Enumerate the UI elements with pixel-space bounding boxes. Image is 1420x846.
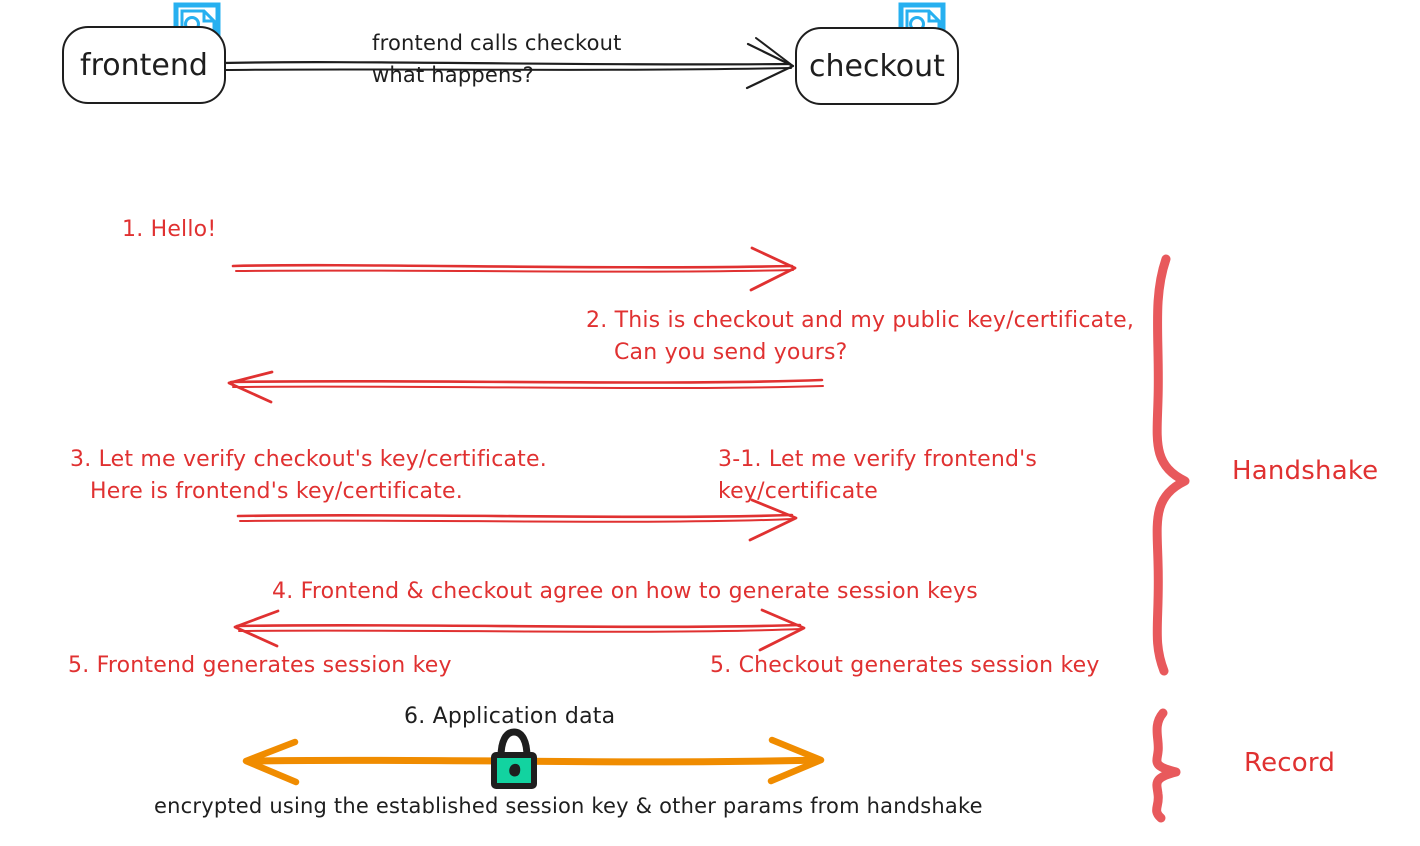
node-frontend-label: frontend bbox=[64, 48, 224, 83]
edge-label-line1: frontend calls checkout bbox=[372, 30, 622, 57]
step-3-1-label-line2: key/certificate bbox=[718, 478, 878, 506]
edge-label-line2: what happens? bbox=[372, 62, 534, 89]
arrow-step-4 bbox=[235, 610, 804, 650]
brace-record bbox=[1157, 713, 1176, 818]
node-checkout-label: checkout bbox=[797, 49, 957, 84]
step-3-label-line2: Here is frontend's key/certificate. bbox=[90, 478, 463, 506]
step-3-label-line1: 3. Let me verify checkout's key/certific… bbox=[70, 446, 547, 474]
footnote-label: encrypted using the established session … bbox=[154, 793, 983, 820]
arrow-step-2 bbox=[229, 372, 823, 402]
step-4-label: 4. Frontend & checkout agree on how to g… bbox=[272, 578, 978, 606]
node-frontend[interactable]: frontend bbox=[62, 26, 226, 104]
step-5-frontend-label: 5. Frontend generates session key bbox=[68, 652, 452, 680]
step-5-checkout-label: 5. Checkout generates session key bbox=[710, 652, 1100, 680]
step-1-label: 1. Hello! bbox=[122, 216, 216, 244]
node-checkout[interactable]: checkout bbox=[795, 27, 959, 105]
diagram-canvas bbox=[0, 0, 1420, 846]
phase-record-label: Record bbox=[1244, 747, 1335, 780]
step-3-1-label-line1: 3-1. Let me verify frontend's bbox=[718, 446, 1037, 474]
phase-handshake-label: Handshake bbox=[1232, 455, 1378, 488]
step-2-label-line1: 2. This is checkout and my public key/ce… bbox=[586, 307, 1134, 335]
padlock-icon bbox=[494, 732, 534, 786]
step-2-label-line2: Can you send yours? bbox=[614, 339, 848, 367]
brace-handshake bbox=[1157, 259, 1185, 671]
step-6-label: 6. Application data bbox=[404, 703, 615, 731]
arrow-step-1 bbox=[233, 248, 795, 290]
